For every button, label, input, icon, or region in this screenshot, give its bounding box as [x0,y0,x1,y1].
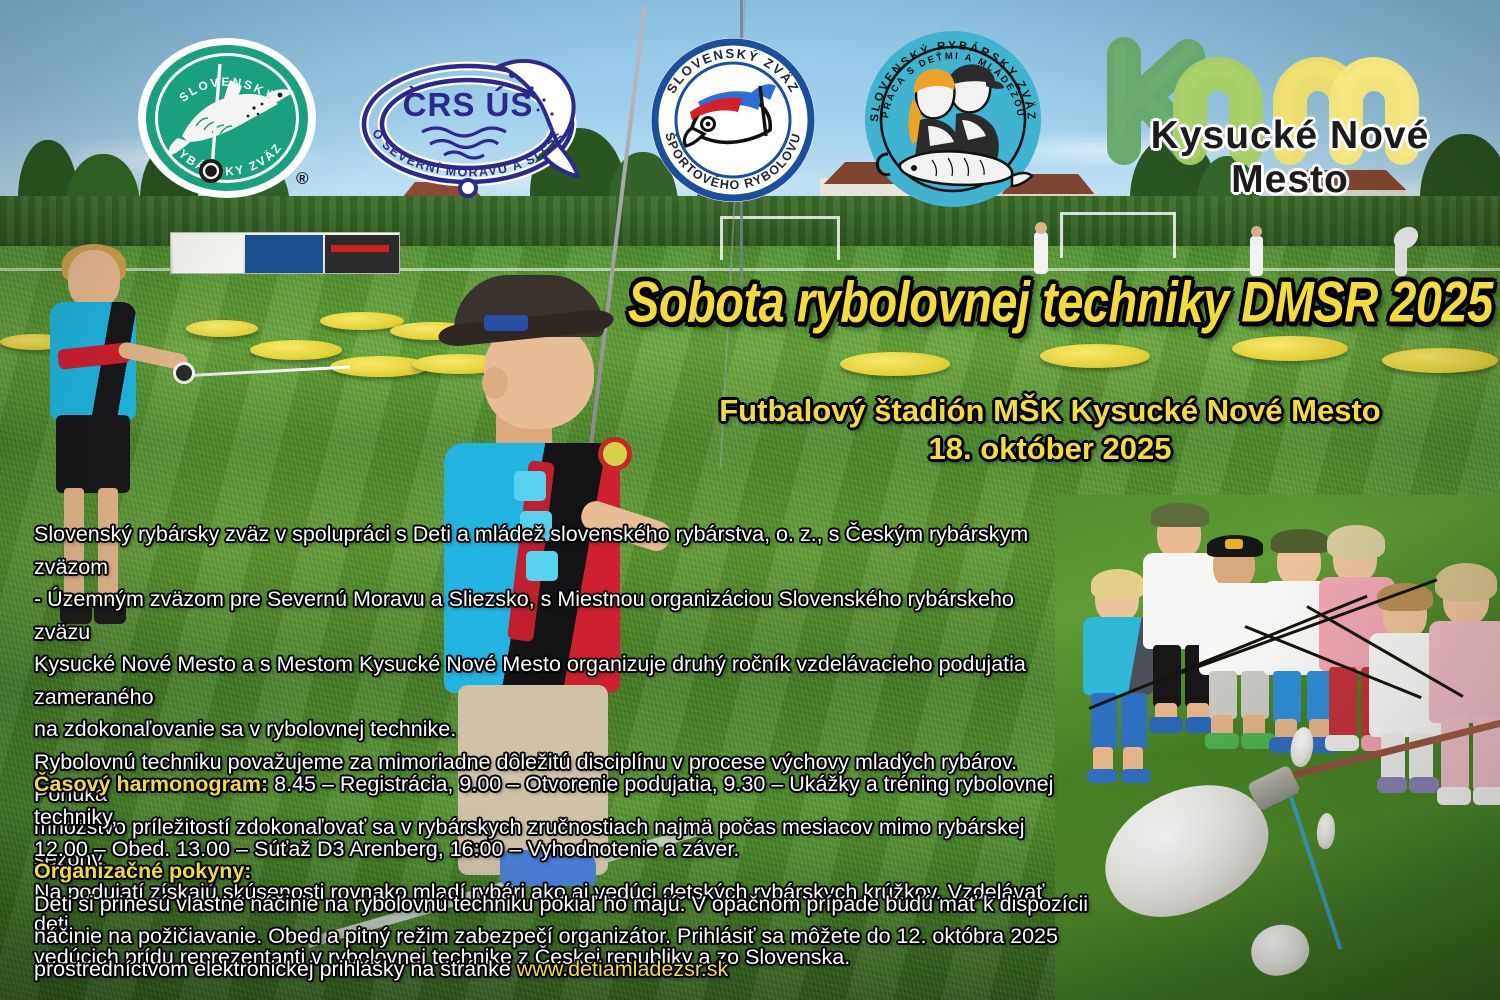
dam-emblem-icon: SLOVENSKÝ RYBÁRSKY ZVÄZ PRÁCA S DEŤMI A … [858,28,1048,210]
venue-line: Futbalový štadión MŠK Kysucké Nové Mesto [620,392,1480,430]
logo-slovensky-rybarsky-zvaz: SLOVENSKÝ RYBÁRSKY ZVÄZ ® [138,38,316,198]
organization-heading: Organizačné pokyny: [34,855,1094,888]
logo-kysucke-nove-mesto: Kysucké Nové Mesto [1090,24,1490,204]
crs-us-emblem-icon: ČRS ÚS PRO SEVERNÍ MORAVU A SLEZSKO [352,48,590,198]
svg-text:ČRS ÚS: ČRS ÚS [403,85,534,123]
fish-and-rod-icon: SLOVENSKÝ RYBÁRSKY ZVÄZ ® [138,38,316,198]
logo-row: SLOVENSKÝ RYBÁRSKY ZVÄZ ® [0,0,1500,215]
intro-line-4: na zdokonaľovanie sa v rybolovnej techni… [34,713,1074,746]
date-line: 18. október 2025 [620,430,1480,468]
knm-caption: Kysucké Nové Mesto [1090,114,1490,202]
logo-crs-us: ČRS ÚS PRO SEVERNÍ MORAVU A SLEZSKO [352,48,590,198]
intro-line-1: Slovenský rybársky zväz v spolupráci s D… [34,518,1074,583]
intro-line-2: - Územným zväzom pre Severnú Moravu a Sl… [34,583,1074,648]
intro-line-3: Kysucké Nové Mesto a s Mestom Kysucké No… [34,648,1074,713]
organization-block: Organizačné pokyny: Deti si prinesú vlas… [34,855,1094,985]
logo-slovensky-zvaz-sportoveho-rybolovu: SLOVENSKÝ ZVÄZ ŠPORTOVÉHO RYBOLOVU [646,36,820,204]
logo-deti-a-mladez: SLOVENSKÝ RYBÁRSKY ZVÄZ PRÁCA S DEŤMI A … [858,28,1048,210]
organization-line-3-prefix: prostredníctvom elektronickej prihlášky … [34,957,517,981]
svg-text:®: ® [296,169,309,188]
schedule-block: Časový harmonogram: 8.45 – Registrácia, … [34,768,1094,866]
schedule-line-1: Časový harmonogram: 8.45 – Registrácia, … [34,768,1094,833]
page-title: Sobota rybolovnej techniky DMSR 2025 [628,268,1473,335]
poster-root: SLOVENSKÝ RYBÁRSKY ZVÄZ ® [0,0,1500,1000]
schedule-heading: Časový harmonogram: [34,772,268,796]
organization-line-1: Deti si prinesú vlastné náčinie na rybol… [34,888,1094,921]
svg-text:RYBÁRSKY ZVÄZ: RYBÁRSKY ZVÄZ [169,140,285,179]
event-venue-date: Futbalový štadión MŠK Kysucké Nové Mesto… [620,392,1480,468]
szsr-emblem-icon: SLOVENSKÝ ZVÄZ ŠPORTOVÉHO RYBOLOVU [646,36,820,204]
organization-line-2: náčinie na požičiavanie. Obed a pitný re… [34,920,1094,953]
organization-line-3: prostredníctvom elektronickej prihlášky … [34,953,1094,986]
registration-url[interactable]: www.detiamladezsr.sk [517,957,729,981]
